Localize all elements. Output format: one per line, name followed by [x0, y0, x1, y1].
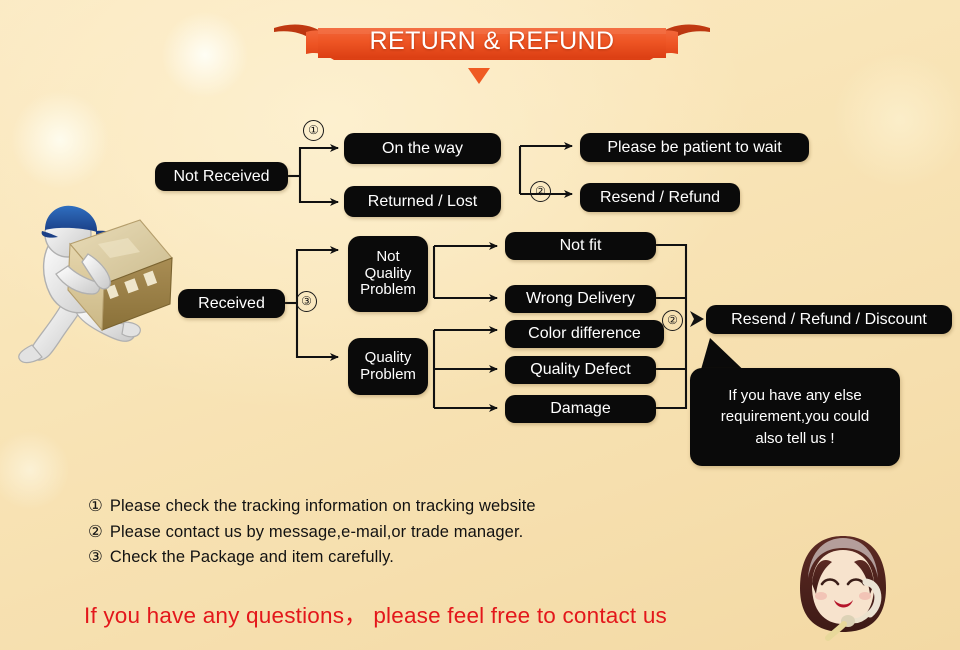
callout-line: requirement,you could	[721, 406, 869, 427]
down-caret-icon	[468, 68, 490, 84]
bracket-arrow-icon	[690, 311, 704, 327]
node-not-fit[interactable]: Not fit	[505, 232, 656, 260]
node-not-quality-problem[interactable]: Not Quality Problem	[348, 236, 428, 312]
node-resend-refund[interactable]: Resend / Refund	[580, 183, 740, 212]
marker-1: ①	[303, 120, 324, 141]
node-line: Problem	[360, 282, 416, 299]
note-marker: ①	[88, 496, 103, 517]
node-received[interactable]: Received	[178, 289, 285, 318]
note-text: Please contact us by message,e-mail,or t…	[110, 522, 523, 543]
courier-carrying-box-icon	[12, 182, 182, 372]
note-item: ① Please check the tracking information …	[88, 496, 708, 517]
customer-service-agent-icon	[788, 528, 898, 646]
note-text: Check the Package and item carefully.	[110, 547, 394, 568]
node-returned-lost[interactable]: Returned / Lost	[344, 186, 501, 217]
note-item: ② Please contact us by message,e-mail,or…	[88, 522, 708, 543]
callout-line: If you have any else	[721, 385, 869, 406]
note-marker: ②	[88, 522, 103, 543]
node-line: Quality	[365, 266, 412, 283]
node-quality-defect[interactable]: Quality Defect	[505, 356, 656, 384]
marker-3: ③	[296, 291, 317, 312]
node-damage[interactable]: Damage	[505, 395, 656, 423]
return-refund-infographic: RETURN & REFUND	[0, 0, 960, 650]
callout-line: also tell us !	[721, 428, 869, 449]
node-please-be-patient[interactable]: Please be patient to wait	[580, 133, 809, 162]
node-line: Problem	[360, 367, 416, 384]
contact-tagline: If you have any questions， please feel f…	[84, 598, 804, 630]
note-item: ③ Check the Package and item carefully.	[88, 547, 708, 568]
node-quality-problem[interactable]: Quality Problem	[348, 338, 428, 395]
callout-bubble: If you have any else requirement,you cou…	[690, 368, 900, 466]
banner: RETURN & REFUND	[266, 18, 718, 64]
node-line: Quality	[365, 350, 412, 367]
banner-title: RETURN & REFUND	[266, 18, 718, 64]
marker-2: ②	[530, 181, 551, 202]
node-on-the-way[interactable]: On the way	[344, 133, 501, 164]
marker-2b: ②	[662, 310, 683, 331]
node-color-difference[interactable]: Color difference	[505, 320, 664, 348]
notes-list: ① Please check the tracking information …	[88, 496, 708, 573]
note-text: Please check the tracking information on…	[110, 496, 536, 517]
node-line: Not	[376, 249, 399, 266]
node-wrong-delivery[interactable]: Wrong Delivery	[505, 285, 656, 313]
note-marker: ③	[88, 547, 103, 568]
